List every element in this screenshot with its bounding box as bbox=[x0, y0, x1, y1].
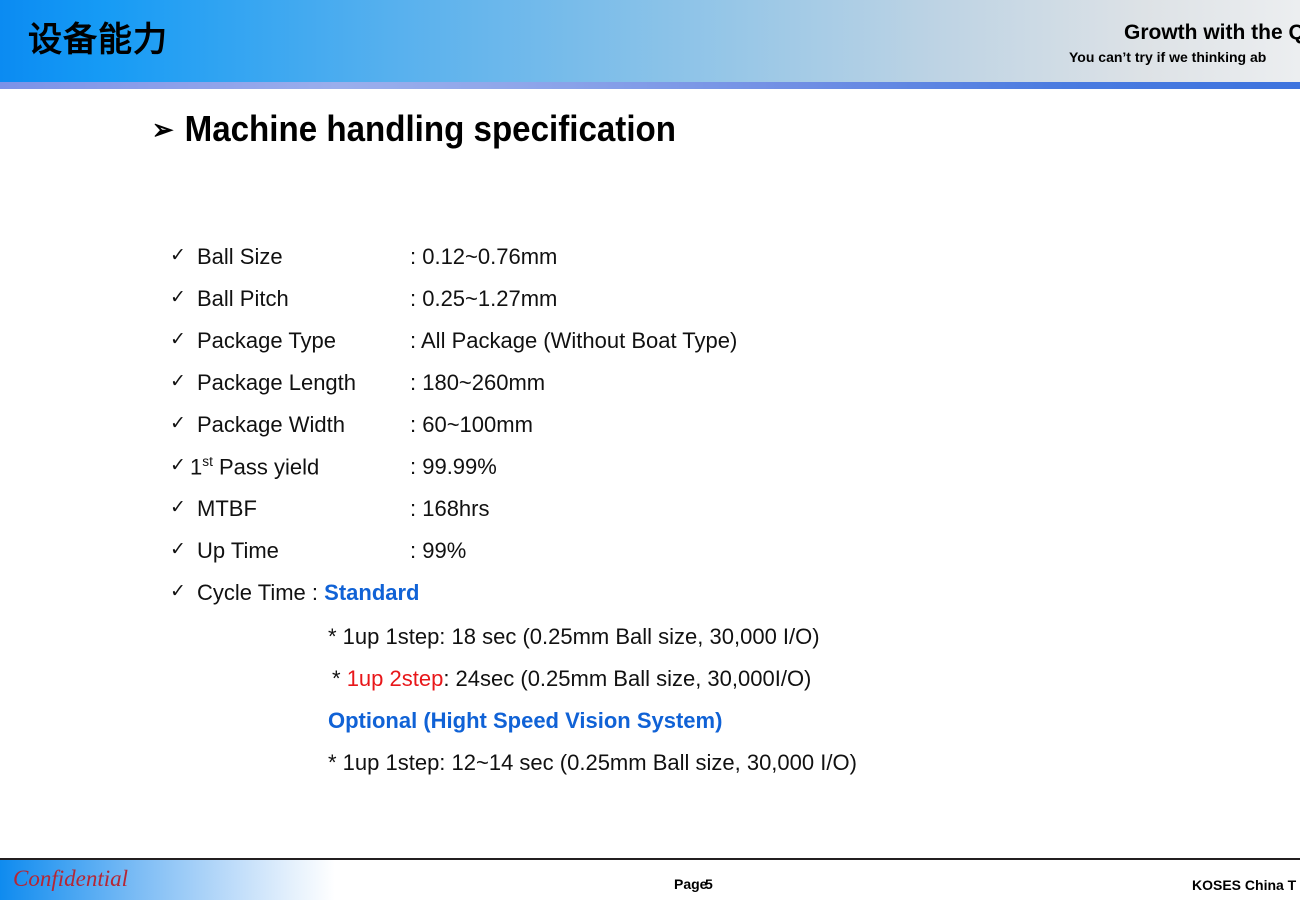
spec-value: : All Package (Without Boat Type) bbox=[410, 328, 737, 354]
check-icon: ✓ bbox=[170, 496, 186, 519]
cycle-time-mode: Standard bbox=[324, 580, 419, 605]
page-title: ➢Machine handling specification bbox=[152, 108, 676, 150]
check-icon: ✓ bbox=[170, 580, 186, 603]
spec-label: Ball Size bbox=[197, 244, 283, 270]
spec-value: : 0.25~1.27mm bbox=[410, 286, 557, 312]
specification-list: ✓ Ball Size : 0.12~0.76mm ✓ Ball Pitch :… bbox=[170, 244, 1070, 622]
header-slogan-group: Growth with the Qu You can’t try if we t… bbox=[1040, 20, 1300, 68]
spec-row-ball-pitch: ✓ Ball Pitch : 0.25~1.27mm bbox=[170, 286, 1070, 328]
page-title-text: Machine handling specification bbox=[185, 108, 676, 149]
spec-label: Package Type bbox=[197, 328, 336, 354]
page-label: Page bbox=[674, 876, 707, 892]
slide-header: 设备能力 Growth with the Qu You can’t try if… bbox=[0, 0, 1300, 82]
spec-value: : 60~100mm bbox=[410, 412, 533, 438]
cycle-detail-highlight: 1up 2step bbox=[347, 666, 444, 691]
spec-label-rest: Pass yield bbox=[213, 454, 319, 479]
spec-row-package-width: ✓ Package Width : 60~100mm bbox=[170, 412, 1070, 454]
spec-value: : 180~260mm bbox=[410, 370, 545, 396]
spec-row-package-type: ✓ Package Type : All Package (Without Bo… bbox=[170, 328, 1070, 370]
spec-label: MTBF bbox=[197, 496, 257, 522]
spec-value: : 99% bbox=[410, 538, 466, 564]
header-title: 设备能力 bbox=[28, 12, 168, 61]
spec-row-mtbf: ✓ MTBF : 168hrs bbox=[170, 496, 1070, 538]
company-name: KOSES China T bbox=[1192, 877, 1296, 893]
spec-value: : 168hrs bbox=[410, 496, 490, 522]
check-icon: ✓ bbox=[170, 538, 186, 561]
spec-label: Package Length bbox=[197, 370, 356, 396]
spec-row-package-length: ✓ Package Length : 180~260mm bbox=[170, 370, 1070, 412]
spec-value: : 99.99% bbox=[410, 454, 497, 480]
header-slogan: Growth with the Qu bbox=[1040, 20, 1300, 46]
check-icon: ✓ bbox=[170, 286, 186, 309]
spec-label: Package Width bbox=[197, 412, 345, 438]
spec-label-superscript: st bbox=[202, 454, 213, 469]
header-accent-stripe bbox=[0, 82, 1300, 89]
check-icon: ✓ bbox=[170, 328, 186, 351]
cycle-detail-standard-1up1step: * 1up 1step: 18 sec (0.25mm Ball size, 3… bbox=[328, 624, 1228, 666]
spec-row-ball-size: ✓ Ball Size : 0.12~0.76mm bbox=[170, 244, 1070, 286]
spec-label: Cycle Time : Standard bbox=[197, 580, 420, 606]
arrow-bullet-icon: ➢ bbox=[152, 113, 174, 146]
header-sub-slogan: You can’t try if we thinking ab bbox=[1040, 46, 1300, 68]
cycle-time-details: * 1up 1step: 18 sec (0.25mm Ball size, 3… bbox=[328, 624, 1228, 792]
spec-row-up-time: ✓ Up Time : 99% bbox=[170, 538, 1070, 580]
spec-row-first-pass-yield: ✓ 1st Pass yield : 99.99% bbox=[170, 454, 1070, 496]
spec-label: 1st Pass yield bbox=[190, 454, 319, 480]
spec-label: Ball Pitch bbox=[197, 286, 289, 312]
cycle-detail-rest: : 24sec (0.25mm Ball size, 30,000I/O) bbox=[443, 666, 811, 691]
cycle-detail-optional-1up1step: * 1up 1step: 12~14 sec (0.25mm Ball size… bbox=[328, 750, 1228, 792]
check-icon: ✓ bbox=[170, 454, 186, 477]
check-icon: ✓ bbox=[170, 412, 186, 435]
spec-label: Up Time bbox=[197, 538, 279, 564]
page-number: 5 bbox=[705, 876, 713, 892]
cycle-time-label: Cycle Time : bbox=[197, 580, 324, 605]
confidential-label: Confidential bbox=[13, 866, 128, 892]
spec-value: : 0.12~0.76mm bbox=[410, 244, 557, 270]
check-icon: ✓ bbox=[170, 244, 186, 267]
cycle-detail-star: * bbox=[332, 666, 347, 691]
cycle-detail-standard-1up2step: * 1up 2step: 24sec (0.25mm Ball size, 30… bbox=[328, 666, 1228, 708]
check-icon: ✓ bbox=[170, 370, 186, 393]
spec-row-cycle-time: ✓ Cycle Time : Standard bbox=[170, 580, 1070, 622]
spec-label-main: 1 bbox=[190, 454, 202, 479]
optional-vision-system-heading: Optional (Hight Speed Vision System) bbox=[328, 708, 1228, 750]
